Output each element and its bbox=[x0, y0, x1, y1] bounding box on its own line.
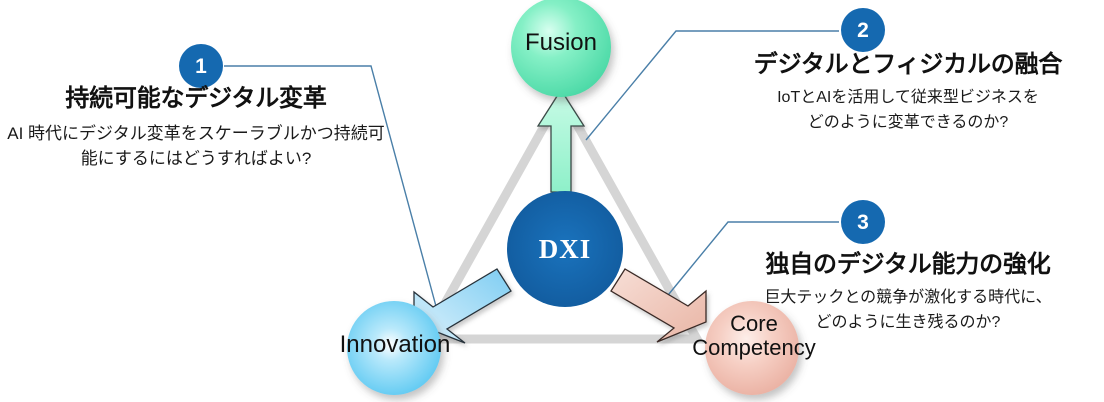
diagram-canvas: Fusion Innovation Core Competency DXI 1 … bbox=[0, 0, 1104, 402]
callout-body-2: IoTとAIを活用して従来型ビジネスを どのように変革できるのか? bbox=[712, 85, 1104, 135]
callout-body-1: AI 時代にデジタル変革をスケーラブルかつ持続可 能にするにはどうすればよい? bbox=[0, 121, 392, 171]
callout-block-3: 独自のデジタル能力の強化 巨大テックとの競争が激化する時代に、 どのように生き残… bbox=[712, 250, 1104, 335]
callout-block-1: 持続可能なデジタル変革 AI 時代にデジタル変革をスケーラブルかつ持続可 能にす… bbox=[0, 84, 392, 171]
callout-body-2-line1: IoTとAIを活用して従来型ビジネスを bbox=[712, 85, 1104, 110]
callout-body-3-line1: 巨大テックとの競争が激化する時代に、 bbox=[712, 285, 1104, 310]
node-sphere-dxi[interactable] bbox=[507, 191, 623, 307]
callout-title-2: デジタルとフィジカルの融合 bbox=[712, 50, 1104, 80]
callout-block-2: デジタルとフィジカルの融合 IoTとAIを活用して従来型ビジネスを どのように変… bbox=[712, 50, 1104, 135]
callout-badge-3[interactable]: 3 bbox=[841, 200, 885, 244]
callout-title-3: 独自のデジタル能力の強化 bbox=[712, 250, 1104, 280]
node-sphere-fusion[interactable] bbox=[511, 0, 611, 97]
node-sphere-innovation[interactable] bbox=[347, 301, 441, 395]
callout-body-1-line2: 能にするにはどうすればよい? bbox=[0, 146, 392, 171]
callout-body-1-line1: AI 時代にデジタル変革をスケーラブルかつ持続可 bbox=[0, 121, 392, 146]
callout-body-3: 巨大テックとの競争が激化する時代に、 どのように生き残るのか? bbox=[712, 285, 1104, 335]
callout-badge-2[interactable]: 2 bbox=[841, 8, 885, 52]
callout-badge-1[interactable]: 1 bbox=[179, 44, 223, 88]
callout-body-3-line2: どのように生き残るのか? bbox=[712, 310, 1104, 335]
callout-title-1: 持続可能なデジタル変革 bbox=[0, 84, 392, 114]
callout-body-2-line2: どのように変革できるのか? bbox=[712, 110, 1104, 135]
arrow-up-icon bbox=[538, 90, 584, 192]
